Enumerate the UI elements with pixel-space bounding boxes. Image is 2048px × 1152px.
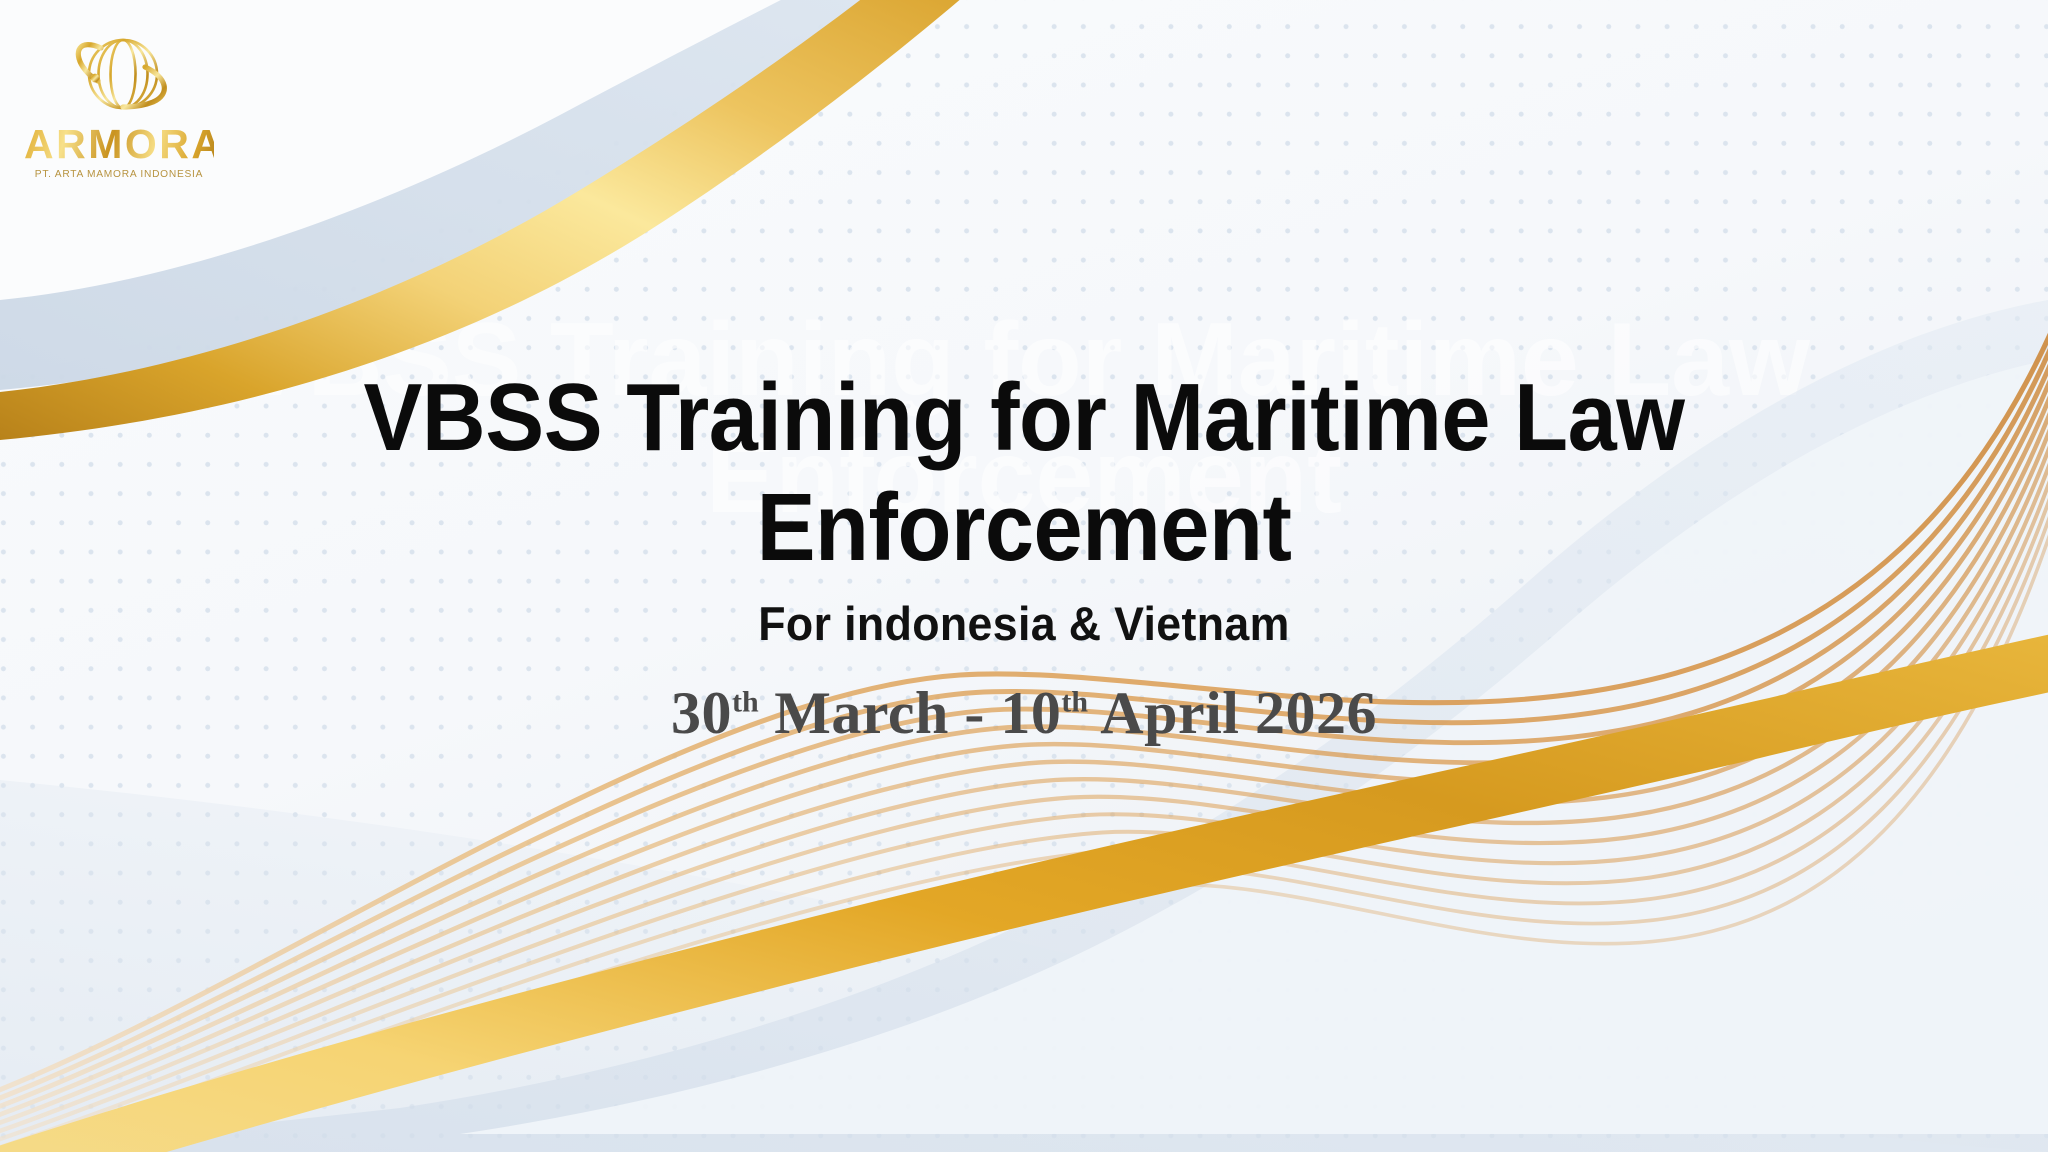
orbit-dot (91, 74, 100, 83)
event-banner: VBSS Training for Maritime Law Enforceme… (0, 0, 2048, 1152)
brand-logo[interactable]: ARMORA PT. ARTA MAMORA INDONESIA (24, 22, 214, 180)
globe-orbit-icon (57, 22, 181, 126)
brand-wordmark: ARMORA (24, 124, 214, 165)
decorative-waves (0, 0, 2048, 1152)
brand-tagline: PT. ARTA MAMORA INDONESIA (24, 169, 214, 180)
